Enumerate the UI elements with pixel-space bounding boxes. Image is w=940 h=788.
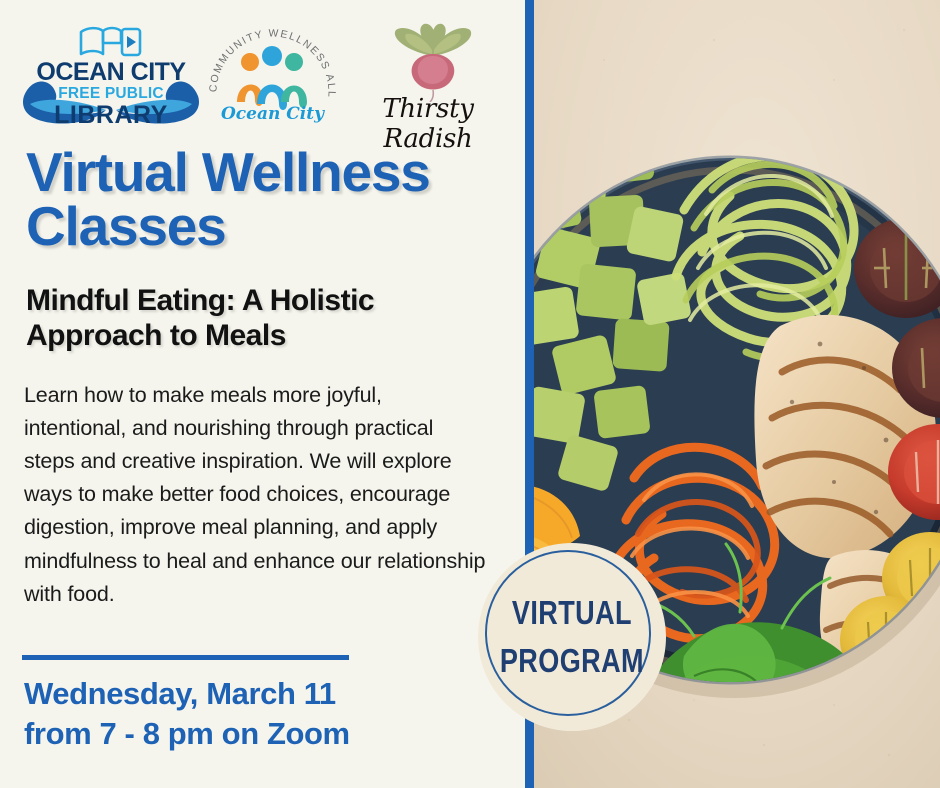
library-logo-line3: LIBRARY	[22, 103, 200, 128]
community-wellness-alliance-logo: COMMUNITY WELLNESS ALLIANCE Ocean City	[205, 22, 340, 134]
virtual-wellness-class-flyer: OCEAN CITY FREE PUBLIC LIBRARY COMMUNITY…	[0, 0, 940, 788]
ocean-city-free-public-library-logo: OCEAN CITY FREE PUBLIC LIBRARY	[22, 22, 200, 140]
thirsty-radish-logo: Thirsty Radish	[348, 22, 508, 134]
badge-line1: VIRTUAL	[500, 589, 644, 637]
virtual-program-badge: VIRTUAL PROGRAM	[478, 543, 666, 731]
badge-text: VIRTUAL PROGRAM	[500, 589, 644, 685]
schedule-info: Wednesday, March 11 from 7 - 8 pm on Zoo…	[24, 674, 504, 755]
library-logo-line1: OCEAN CITY	[22, 60, 200, 85]
page-title: Virtual Wellness Classes	[26, 146, 526, 254]
content-panel: OCEAN CITY FREE PUBLIC LIBRARY COMMUNITY…	[0, 0, 525, 788]
logo-row: OCEAN CITY FREE PUBLIC LIBRARY COMMUNITY…	[0, 22, 525, 142]
library-logo-line2: FREE PUBLIC	[22, 86, 200, 102]
subtitle-line2: Approach to Meals	[26, 318, 496, 353]
badge-line2: PROGRAM	[500, 637, 644, 685]
class-description: Learn how to make meals more joyful, int…	[24, 379, 486, 611]
cwa-logo-script-text: Ocean City	[205, 104, 340, 124]
headline-line2: Classes	[26, 200, 526, 254]
library-logo-text: OCEAN CITY FREE PUBLIC LIBRARY	[22, 60, 200, 128]
watercolor-radish-icon	[378, 22, 488, 102]
schedule-line1: Wednesday, March 11	[24, 674, 504, 714]
divider-rule	[22, 655, 349, 660]
headline-line1: Virtual Wellness	[26, 146, 526, 200]
class-subtitle: Mindful Eating: A Holistic Approach to M…	[26, 283, 496, 354]
schedule-line2: from 7 - 8 pm on Zoom	[24, 714, 504, 754]
subtitle-line1: Mindful Eating: A Holistic	[26, 283, 496, 318]
open-book-with-tablet-icon	[78, 24, 144, 58]
